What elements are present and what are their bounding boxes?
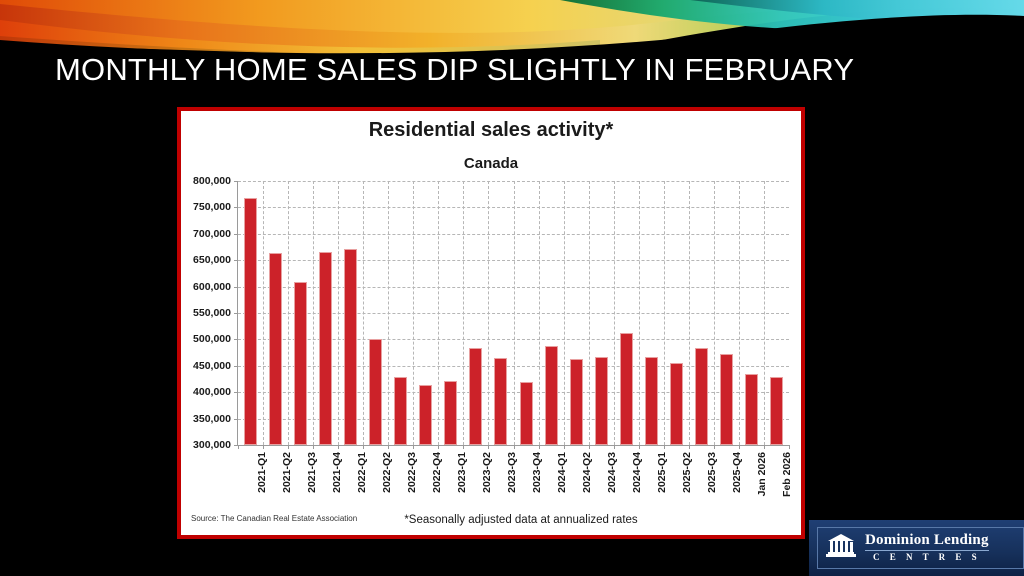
x-axis-tick (764, 445, 765, 449)
vertical-gridline (288, 181, 289, 445)
y-axis-label: 500,000 (193, 333, 231, 345)
vertical-gridline (664, 181, 665, 445)
logo-inner: Dominion Lending C E N T R E S (817, 527, 1024, 569)
bar (720, 354, 733, 445)
bar (620, 333, 633, 445)
x-axis-label: 2022-Q4 (431, 452, 443, 493)
bar (695, 348, 708, 445)
bar (469, 348, 482, 445)
y-axis-label: 800,000 (193, 175, 231, 187)
x-axis-label: 2023-Q3 (506, 452, 518, 493)
vertical-gridline (589, 181, 590, 445)
x-axis-tick (514, 445, 515, 449)
y-axis-tick (234, 392, 238, 393)
decorative-swoosh-banner (0, 0, 1024, 58)
chart-image-frame: Residential sales activity* Canada 800,0… (177, 107, 805, 539)
logo-name: Dominion Lending (865, 533, 989, 551)
y-axis-label: 650,000 (193, 254, 231, 266)
y-axis-tick (234, 313, 238, 314)
y-axis-tick (234, 207, 238, 208)
plot-area: 800,000750,000700,000650,000600,000550,0… (237, 181, 789, 446)
x-axis-tick (438, 445, 439, 449)
x-axis-tick (614, 445, 615, 449)
bar (394, 377, 407, 445)
x-axis-tick (564, 445, 565, 449)
x-axis-tick (313, 445, 314, 449)
x-axis-label: 2025-Q3 (706, 452, 718, 493)
bar (319, 252, 332, 445)
y-axis-tick (234, 366, 238, 367)
vertical-gridline (714, 181, 715, 445)
x-axis-tick (589, 445, 590, 449)
bar (444, 381, 457, 445)
vertical-gridline (413, 181, 414, 445)
y-axis-tick (234, 260, 238, 261)
x-axis-tick (639, 445, 640, 449)
x-axis-label: 2022-Q2 (381, 452, 393, 493)
bar (520, 382, 533, 445)
vertical-gridline (313, 181, 314, 445)
x-axis-label: 2023-Q1 (456, 452, 468, 493)
vertical-gridline (614, 181, 615, 445)
x-axis-tick (539, 445, 540, 449)
x-axis-label: Jan 2026 (756, 452, 768, 496)
x-axis-label: 2021-Q4 (331, 452, 343, 493)
plot-wrapper: 800,000750,000700,000650,000600,000550,0… (237, 181, 789, 446)
chart-footnote: *Seasonally adjusted data at annualized … (181, 514, 801, 526)
x-axis-label: 2021-Q2 (281, 452, 293, 493)
x-axis-label: 2021-Q3 (306, 452, 318, 493)
logo-subtitle: C E N T R E S (865, 553, 989, 562)
x-axis-tick (463, 445, 464, 449)
x-axis-label: 2023-Q4 (531, 452, 543, 493)
x-axis-label: 2024-Q2 (581, 452, 593, 493)
x-axis-label: 2022-Q3 (406, 452, 418, 493)
y-axis-label: 300,000 (193, 439, 231, 451)
vertical-gridline (263, 181, 264, 445)
logo-text: Dominion Lending C E N T R E S (865, 533, 989, 562)
x-axis-label: 2025-Q1 (656, 452, 668, 493)
vertical-gridline (539, 181, 540, 445)
x-axis-tick (363, 445, 364, 449)
x-axis-label: 2025-Q4 (731, 452, 743, 493)
y-axis-tick (234, 339, 238, 340)
vertical-gridline (488, 181, 489, 445)
y-axis-label: 350,000 (193, 413, 231, 425)
bar (494, 358, 507, 445)
y-axis-label: 550,000 (193, 307, 231, 319)
x-axis-tick (338, 445, 339, 449)
vertical-gridline (564, 181, 565, 445)
chart-canvas: Residential sales activity* Canada 800,0… (181, 111, 801, 535)
x-axis-label: 2025-Q2 (681, 452, 693, 493)
bar (770, 377, 783, 445)
x-axis-tick (789, 445, 790, 449)
bar (545, 346, 558, 445)
y-axis-tick (234, 181, 238, 182)
building-pillars-icon (824, 533, 858, 564)
vertical-gridline (639, 181, 640, 445)
y-axis-label: 750,000 (193, 201, 231, 213)
chart-title: Residential sales activity* (181, 119, 801, 142)
x-axis-label: 2023-Q2 (481, 452, 493, 493)
bar (645, 357, 658, 445)
slide-title: MONTHLY HOME SALES DIP SLIGHTLY IN FEBRU… (55, 52, 995, 88)
vertical-gridline (463, 181, 464, 445)
y-axis-tick (234, 287, 238, 288)
vertical-gridline (363, 181, 364, 445)
x-axis-tick (664, 445, 665, 449)
y-axis-label: 700,000 (193, 228, 231, 240)
x-axis-tick (263, 445, 264, 449)
chart-subtitle: Canada (181, 155, 801, 172)
bar (745, 374, 758, 445)
bar (269, 253, 282, 445)
y-axis-tick (234, 234, 238, 235)
y-axis-label: 450,000 (193, 360, 231, 372)
x-axis-label: 2024-Q4 (631, 452, 643, 493)
vertical-gridline (514, 181, 515, 445)
x-axis-tick (413, 445, 414, 449)
vertical-gridline (388, 181, 389, 445)
bar (419, 385, 432, 445)
vertical-gridline (739, 181, 740, 445)
bar (244, 198, 257, 445)
vertical-gridline (764, 181, 765, 445)
dominion-lending-logo: Dominion Lending C E N T R E S (809, 520, 1024, 576)
x-axis-tick (288, 445, 289, 449)
bar (595, 357, 608, 445)
bar (344, 249, 357, 445)
vertical-gridline (338, 181, 339, 445)
vertical-gridline (689, 181, 690, 445)
x-axis-label: 2021-Q1 (256, 452, 268, 493)
x-axis-tick (388, 445, 389, 449)
x-axis-tick (739, 445, 740, 449)
bar (570, 359, 583, 445)
x-axis-tick (689, 445, 690, 449)
x-axis-label: Feb 2026 (781, 452, 793, 497)
y-axis-tick (234, 419, 238, 420)
x-axis-label: 2024-Q3 (606, 452, 618, 493)
y-axis-label: 600,000 (193, 281, 231, 293)
vertical-gridline (438, 181, 439, 445)
x-axis-label: 2024-Q1 (556, 452, 568, 493)
x-axis-tick (488, 445, 489, 449)
bar (670, 363, 683, 445)
presentation-slide: MONTHLY HOME SALES DIP SLIGHTLY IN FEBRU… (0, 0, 1024, 576)
bar (294, 282, 307, 445)
bar (369, 339, 382, 445)
y-axis-label: 400,000 (193, 386, 231, 398)
x-axis-label: 2022-Q1 (356, 452, 368, 493)
x-axis-tick (714, 445, 715, 449)
x-axis-tick (238, 445, 239, 449)
